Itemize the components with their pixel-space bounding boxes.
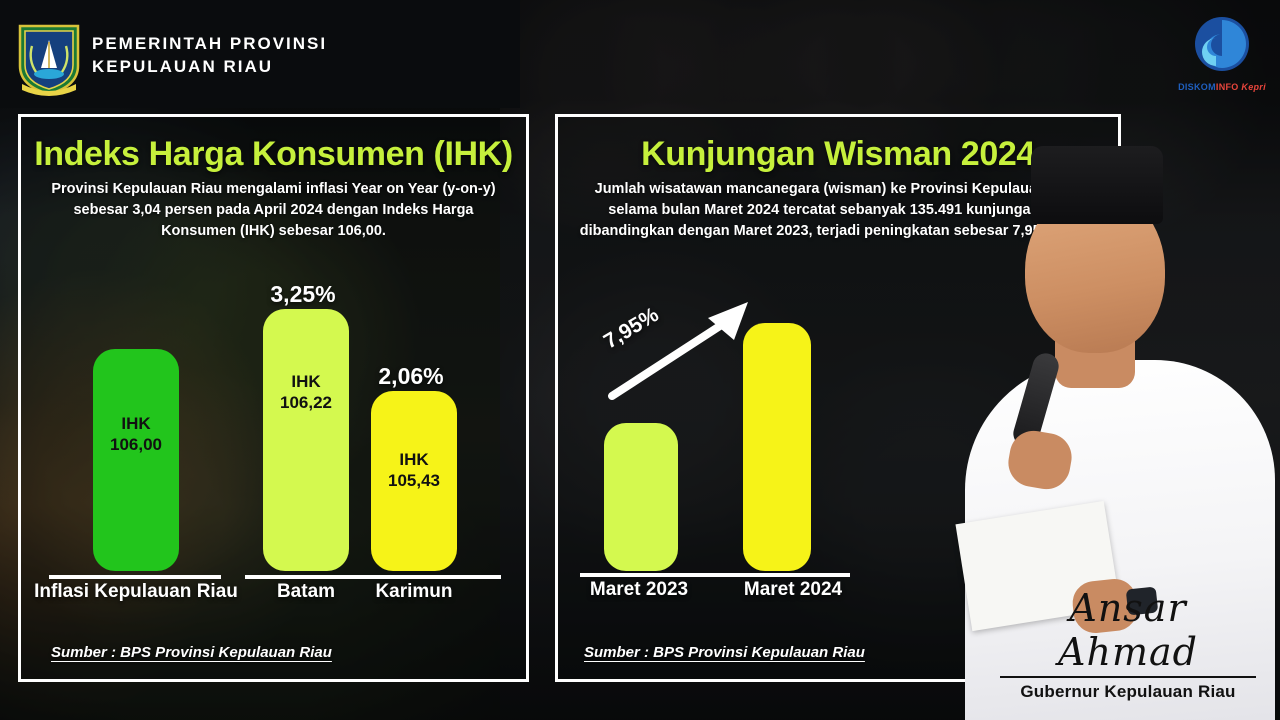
growth-arrow-icon (600, 296, 760, 406)
ihk-value: 105,43 (371, 470, 457, 491)
category-label-maret-2023: Maret 2023 (564, 579, 714, 601)
card-ihk-description: Provinsi Kepulauan Riau mengalami inflas… (47, 179, 500, 242)
governor-songkok-icon (1031, 146, 1163, 224)
ihk-tag: IHK (371, 449, 457, 470)
signature-block: Ansar Ahmad Gubernur Kepulauan Riau (994, 586, 1262, 702)
bar-inner-label-batam: IHK 106,22 (263, 371, 349, 413)
org-line-1: PEMERINTAH PROVINSI (92, 32, 327, 55)
signature-name: Ansar Ahmad (994, 586, 1262, 674)
ihk-tag: IHK (93, 413, 179, 434)
signature-rule (1000, 676, 1256, 678)
axis-rule-wisman (580, 573, 850, 577)
org-line-2: KEPULAUAN RIAU (92, 55, 327, 78)
growth-annotation: 7,95% (600, 296, 760, 406)
ihk-value: 106,00 (93, 434, 179, 455)
provincial-emblem-icon (16, 22, 82, 96)
category-label-maret-2024: Maret 2024 (718, 579, 868, 601)
axis-rule-batam-karimun (245, 575, 501, 579)
signature-role: Gubernur Kepulauan Riau (994, 682, 1262, 702)
bar-value-label-batam: 3,25% (243, 281, 363, 308)
bar-inner-label-karimun: IHK 105,43 (371, 449, 457, 491)
infographic-canvas: PEMERINTAH PROVINSI KEPULAUAN RIAU DISKO… (0, 0, 1280, 720)
card-ihk: Indeks Harga Konsumen (IHK) Provinsi Kep… (18, 114, 529, 682)
card-ihk-title: Indeks Harga Konsumen (IHK) (21, 135, 526, 174)
ihk-tag: IHK (263, 371, 349, 392)
source-note-ihk: Sumber : BPS Provinsi Kepulauan Riau (51, 644, 332, 661)
axis-rule-inflasi (49, 575, 221, 579)
bar-value-label-karimun: 2,06% (351, 363, 471, 390)
ihk-value: 106,22 (263, 392, 349, 413)
category-label-inflasi: Inflasi Kepulauan Riau (31, 581, 241, 603)
bar-maret-2023 (604, 423, 678, 571)
bar-inflasi (93, 349, 179, 571)
bar-batam (263, 309, 349, 571)
source-note-wisman: Sumber : BPS Provinsi Kepulauan Riau (584, 644, 865, 661)
bar-inner-label-inflasi: IHK 106,00 (93, 413, 179, 455)
page-title: PEMERINTAH PROVINSI KEPULAUAN RIAU (92, 32, 327, 78)
category-label-karimun: Karimun (351, 581, 477, 603)
